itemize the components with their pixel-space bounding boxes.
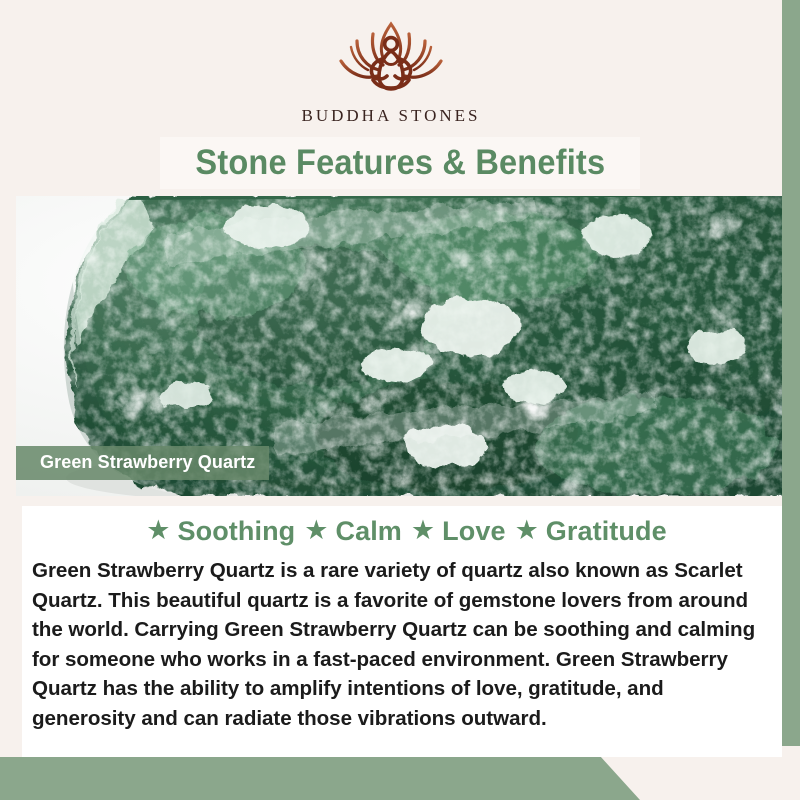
brand-name: BUDDHA STONES (302, 106, 481, 126)
poster-card: BUDDHA STONES Stone Features & Benefits (0, 0, 782, 757)
hero-photo: Green Strawberry Quartz (16, 196, 782, 496)
infographic-poster: BUDDHA STONES Stone Features & Benefits (0, 0, 800, 800)
brand-logo: BUDDHA STONES (0, 14, 782, 126)
star-icon: ★ (146, 517, 170, 544)
star-icon: ★ (304, 517, 328, 544)
star-icon: ★ (515, 517, 539, 544)
benefit-label: Calm (335, 516, 401, 547)
benefit-item: ★ Gratitude (506, 516, 667, 547)
benefit-label: Gratitude (546, 516, 667, 547)
benefit-item: ★ Love (402, 516, 506, 547)
benefit-label: Love (442, 516, 505, 547)
page-title: Stone Features & Benefits (195, 143, 605, 183)
content-panel: ★ Soothing ★ Calm ★ Love ★ Gratitude Gre… (22, 506, 782, 757)
title-banner: Stone Features & Benefits (160, 137, 640, 189)
frame-accent-bottom (0, 756, 800, 800)
benefit-item: ★ Soothing (137, 516, 295, 547)
benefit-item: ★ Calm (295, 516, 402, 547)
benefit-label: Soothing (178, 516, 296, 547)
star-icon: ★ (411, 517, 435, 544)
photo-caption: Green Strawberry Quartz (16, 446, 269, 480)
description-paragraph: Green Strawberry Quartz is a rare variet… (32, 556, 772, 733)
lotus-meditation-icon (327, 14, 455, 104)
frame-accent-right (782, 46, 800, 746)
benefits-row: ★ Soothing ★ Calm ★ Love ★ Gratitude (22, 506, 782, 547)
